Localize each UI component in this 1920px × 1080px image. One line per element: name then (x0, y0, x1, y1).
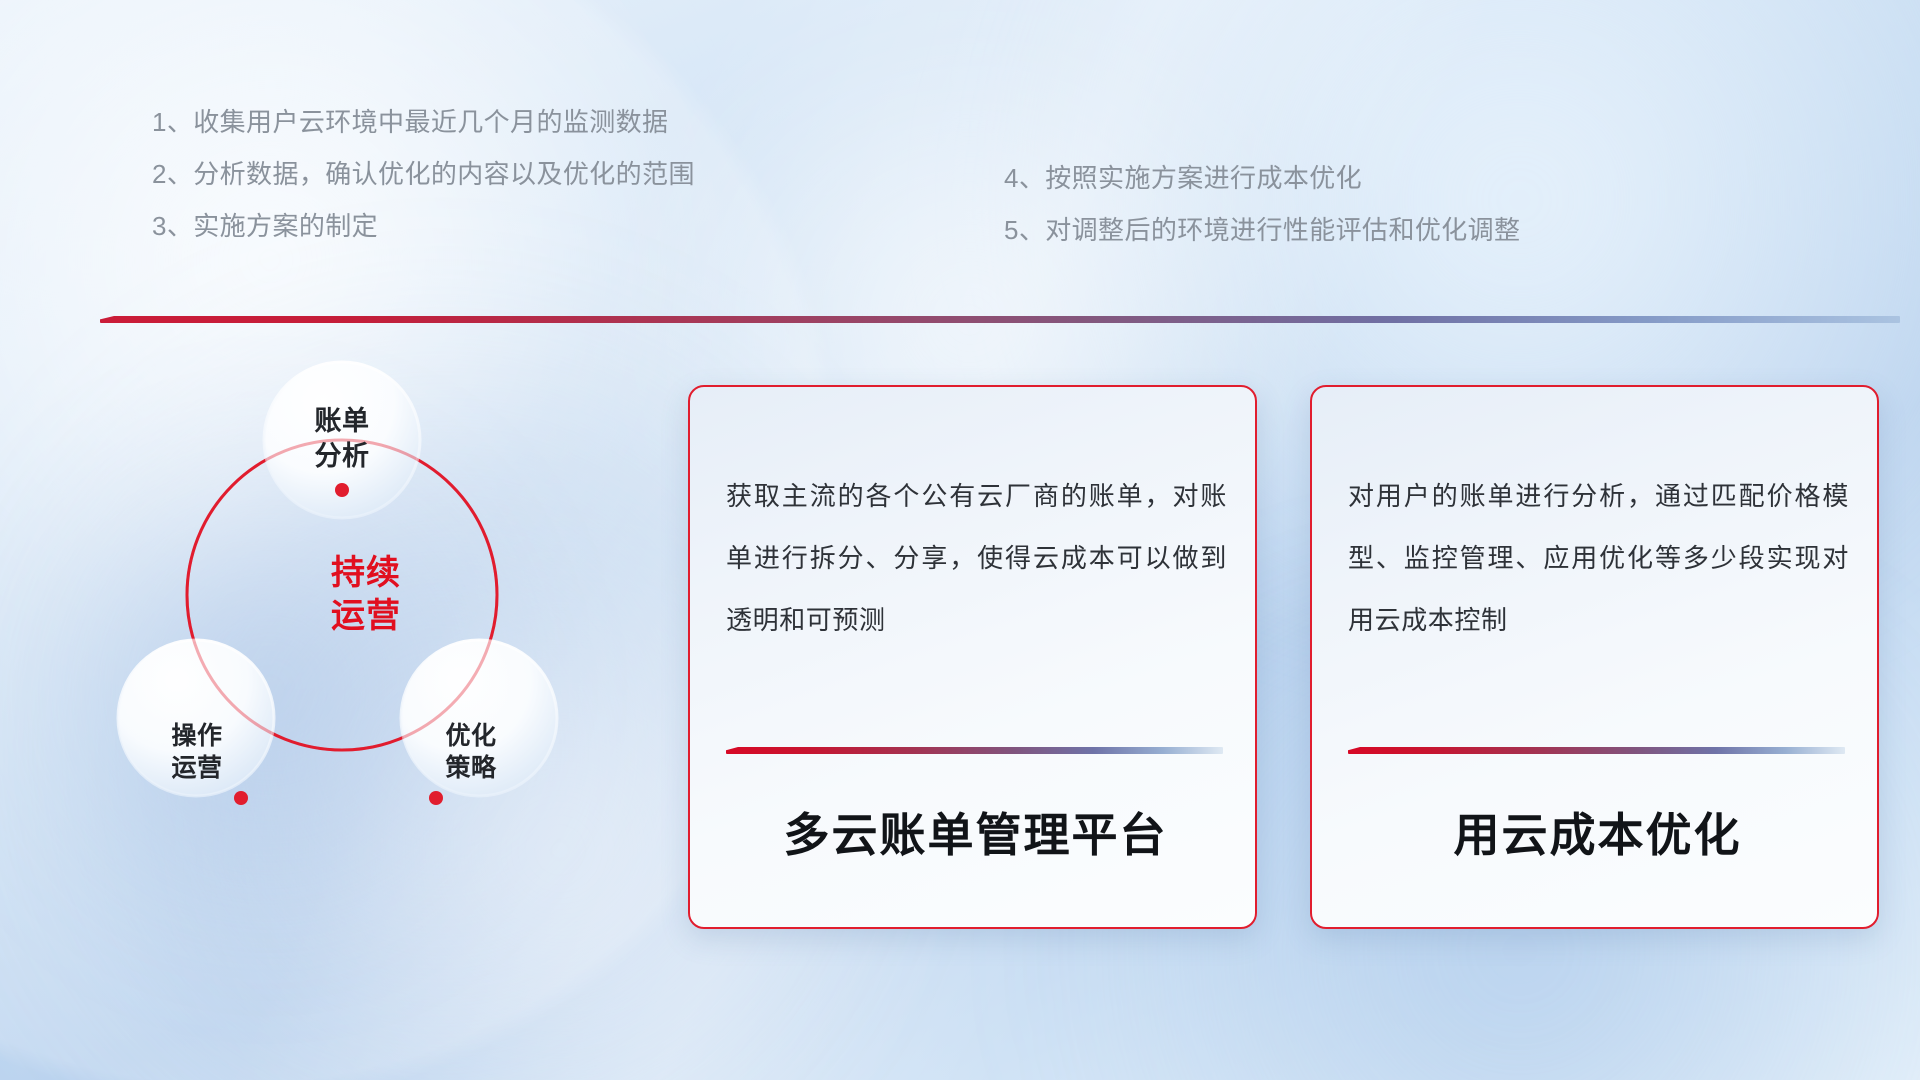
section-divider (100, 316, 1900, 323)
list-item: 2、分析数据，确认优化的内容以及优化的范围 (152, 148, 695, 200)
venn-dot-top (335, 483, 349, 497)
list-item: 3、实施方案的制定 (152, 200, 695, 252)
info-card-divider (726, 747, 1223, 754)
venn-dot-bottom-left (234, 791, 248, 805)
venn-label-center: 持续 运营 (286, 552, 446, 637)
info-card-title: 多云账单管理平台 (724, 799, 1227, 865)
venn-dot-bottom-right (429, 791, 443, 805)
process-step-list: 1、收集用户云环境中最近几个月的监测数据 2、分析数据，确认优化的内容以及优化的… (0, 0, 1920, 260)
list-item: 5、对调整后的环境进行性能评估和优化调整 (1004, 204, 1520, 256)
process-step-list-left-column: 1、收集用户云环境中最近几个月的监测数据 2、分析数据，确认优化的内容以及优化的… (152, 96, 695, 252)
list-item: 4、按照实施方案进行成本优化 (1004, 152, 1520, 204)
venn-diagram: 账单 分析 操作 运营 优化 策略 持续 运营 (96, 350, 636, 970)
venn-label-top: 账单 分析 (262, 404, 422, 473)
info-card[interactable]: 对用户的账单进行分析，通过匹配价格模型、监控管理、应用优化等多少段实现对用云成本… (1310, 385, 1879, 929)
process-step-list-right-column: 4、按照实施方案进行成本优化 5、对调整后的环境进行性能评估和优化调整 (1004, 152, 1520, 256)
info-card-body: 对用户的账单进行分析，通过匹配价格模型、监控管理、应用优化等多少段实现对用云成本… (1348, 465, 1849, 651)
list-item: 1、收集用户云环境中最近几个月的监测数据 (152, 96, 695, 148)
info-card-title: 用云成本优化 (1346, 799, 1849, 865)
venn-label-bottom-left: 操作 运营 (122, 720, 272, 784)
info-card[interactable]: 获取主流的各个公有云厂商的账单，对账单进行拆分、分享，使得云成本可以做到透明和可… (688, 385, 1257, 929)
info-card-body: 获取主流的各个公有云厂商的账单，对账单进行拆分、分享，使得云成本可以做到透明和可… (726, 465, 1227, 651)
venn-label-bottom-right: 优化 策略 (396, 720, 546, 784)
info-card-divider (1348, 747, 1845, 754)
